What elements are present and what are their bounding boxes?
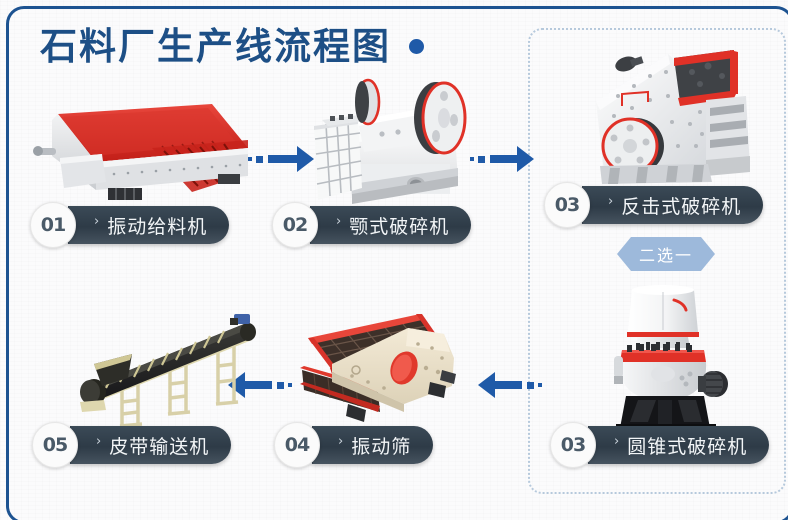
step-name-pill[interactable]: › 皮带输送机 [70, 426, 231, 464]
step-label-03-impact[interactable]: 03 › 反击式破碎机 [544, 186, 763, 224]
step-label-text: 反击式破碎机 [621, 192, 741, 219]
machine-vibrating-screen [292, 312, 488, 428]
choose-one-of-two-label: 二选一 [639, 242, 693, 266]
step-name-pill[interactable]: › 振动给料机 [68, 206, 229, 244]
step-name-pill[interactable]: › 圆锥式破碎机 [588, 426, 769, 464]
title-dot-icon [409, 39, 424, 54]
machine-vibrating-feeder [22, 96, 254, 208]
step-number-badge: 03 [550, 422, 596, 468]
chevron-right-icon: › [94, 214, 99, 229]
frame-edge-mask-right [788, 0, 800, 530]
machine-jaw-crusher [306, 76, 488, 208]
chevron-right-icon: › [336, 214, 341, 229]
frame-edge-mask-bottom [0, 520, 800, 530]
machine-cone-crusher [586, 282, 750, 434]
chevron-right-icon: › [614, 434, 619, 449]
step-label-01[interactable]: 01 › 振动给料机 [30, 206, 229, 244]
machine-belt-conveyor [72, 302, 272, 432]
step-label-text: 圆锥式破碎机 [627, 432, 747, 459]
arrow-jaw-to-impact [470, 146, 534, 172]
step-label-03-cone[interactable]: 03 › 圆锥式破碎机 [550, 426, 769, 464]
step-name-pill[interactable]: › 反击式破碎机 [582, 186, 763, 224]
step-name-pill[interactable]: › 振动筛 [312, 426, 433, 464]
step-label-text: 颚式破碎机 [349, 212, 449, 239]
step-label-04[interactable]: 04 › 振动筛 [274, 426, 433, 464]
step-name-pill[interactable]: › 颚式破碎机 [310, 206, 471, 244]
flowchart-page: 石料厂生产线流程图 [0, 0, 800, 530]
step-label-text: 振动筛 [351, 432, 411, 459]
step-label-05[interactable]: 05 › 皮带输送机 [32, 426, 231, 464]
step-number-badge: 04 [274, 422, 320, 468]
step-label-text: 振动给料机 [107, 212, 207, 239]
step-number-badge: 01 [30, 202, 76, 248]
chevron-right-icon: › [96, 434, 101, 449]
step-number-badge: 03 [544, 182, 590, 228]
chevron-right-icon: › [608, 194, 613, 209]
title-block: 石料厂生产线流程图 [40, 16, 424, 70]
step-number-badge: 05 [32, 422, 78, 468]
step-label-text: 皮带输送机 [109, 432, 209, 459]
chevron-right-icon: › [338, 434, 343, 449]
step-label-02[interactable]: 02 › 颚式破碎机 [272, 206, 471, 244]
arrow-feeder-to-jaw [248, 146, 314, 172]
step-number-badge: 02 [272, 202, 318, 248]
page-title: 石料厂生产线流程图 [40, 16, 391, 70]
choose-one-of-two-badge: 二选一 [617, 237, 715, 271]
